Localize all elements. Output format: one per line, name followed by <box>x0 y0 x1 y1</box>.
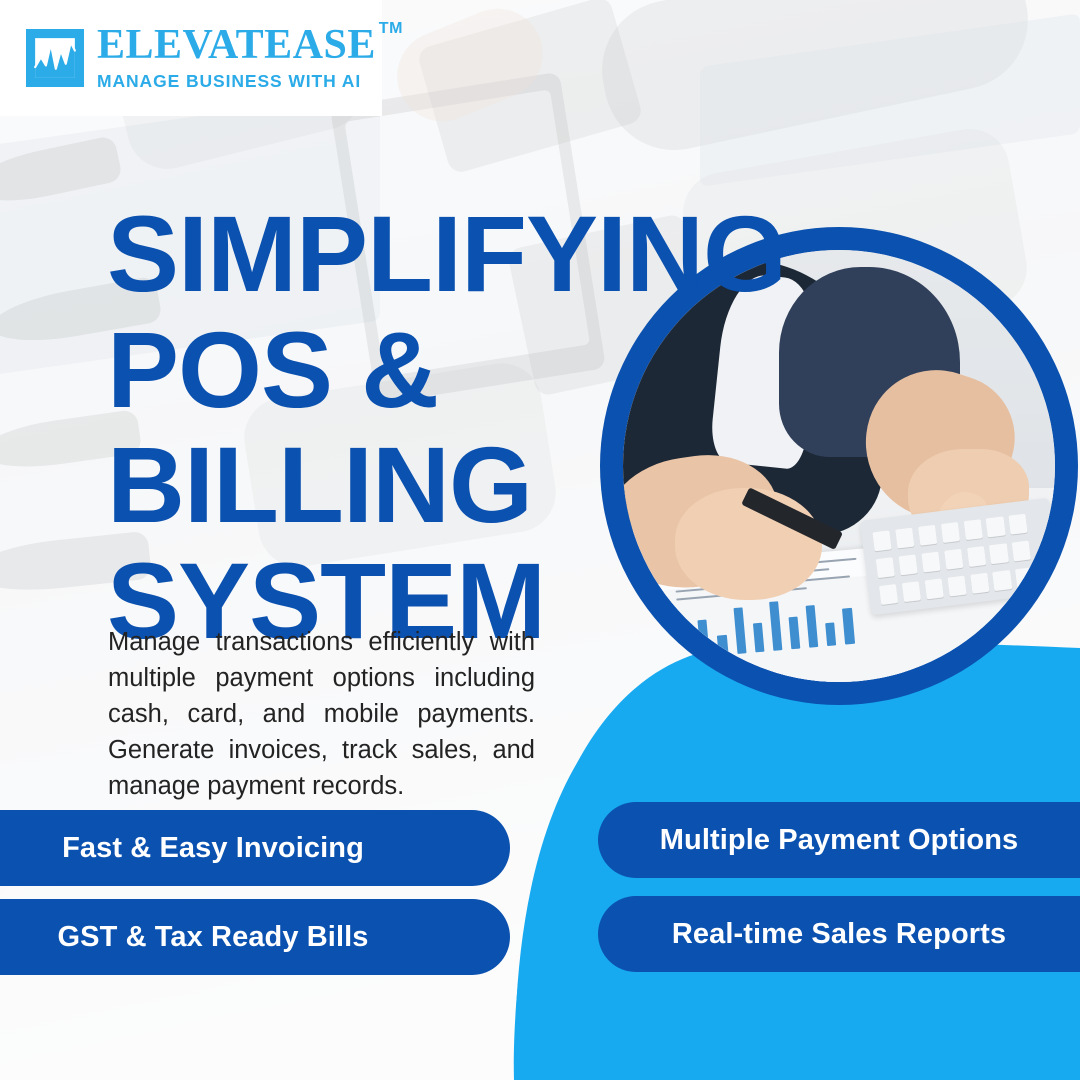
line-chart-icon <box>26 29 84 87</box>
feature-pill-fast-easy-invoicing[interactable]: Fast & Easy Invoicing <box>0 810 510 886</box>
headline-line-1: SIMPLIFYING <box>107 196 787 312</box>
feature-pill-label: Multiple Payment Options <box>660 824 1019 857</box>
feature-pill-label: Real-time Sales Reports <box>672 918 1006 951</box>
page-title: SIMPLIFYING POS & BILLING SYSTEM <box>107 196 787 658</box>
brand-logo[interactable]: ELEVATEASE TM MANAGE BUSINESS WITH AI <box>0 0 382 116</box>
feature-pill-gst-tax-ready-bills[interactable]: GST & Tax Ready Bills <box>0 899 510 975</box>
feature-pill-label: GST & Tax Ready Bills <box>58 921 369 954</box>
headline-line-3: BILLING <box>107 427 787 543</box>
brand-tagline: MANAGE BUSINESS WITH AI <box>97 71 376 92</box>
description-paragraph: Manage transactions efficiently with mul… <box>108 624 535 805</box>
feature-pill-label: Fast & Easy Invoicing <box>62 832 364 865</box>
headline-line-2: POS & <box>107 312 787 428</box>
brand-logo-text: ELEVATEASE TM MANAGE BUSINESS WITH AI <box>97 24 376 92</box>
feature-pill-real-time-sales-reports[interactable]: Real-time Sales Reports <box>598 896 1080 972</box>
poster-canvas: ELEVATEASE TM MANAGE BUSINESS WITH AI SI… <box>0 0 1080 1080</box>
feature-pill-multiple-payment-options[interactable]: Multiple Payment Options <box>598 802 1080 878</box>
brand-name: ELEVATEASE <box>97 24 376 66</box>
trademark-symbol: TM <box>379 20 403 38</box>
